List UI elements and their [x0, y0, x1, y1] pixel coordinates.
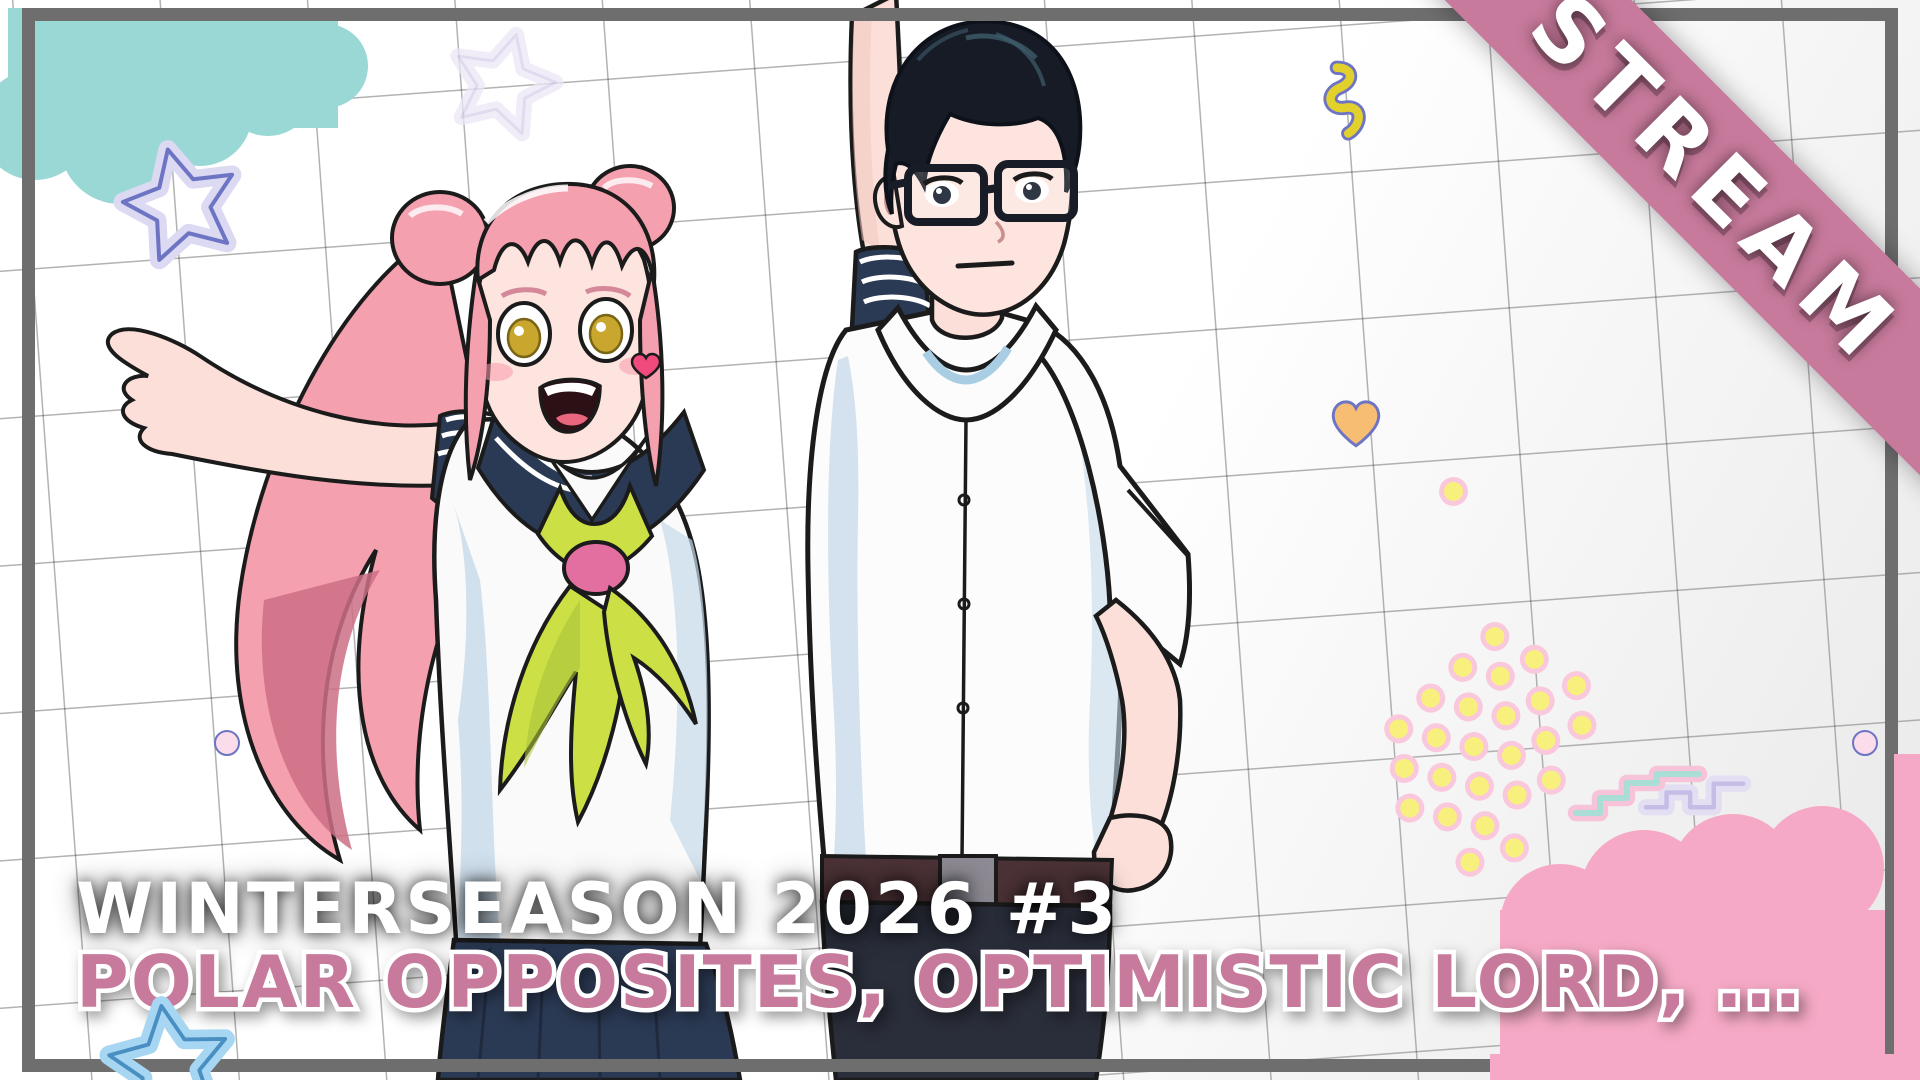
- pink-edge-bottom: [1490, 1054, 1920, 1080]
- star-blue-bottom-icon: [104, 995, 234, 1080]
- dot-yellow-solo: [1444, 482, 1463, 501]
- title-block: WINTERSEASON 2026 #3 POLAR OPPOSITES, OP…: [76, 875, 1803, 1018]
- pink-edge-right: [1894, 754, 1920, 1054]
- page-title-sub: POLAR OPPOSITES, OPTIMISTIC LORD, ...: [76, 946, 1803, 1018]
- zigzag-pink-mint-icon: [1570, 764, 1708, 826]
- dot-pink-right: [1852, 730, 1878, 756]
- banner-stage: WINTERSEASON 2026 #3 POLAR OPPOSITES, OP…: [0, 0, 1920, 1080]
- page-title-main: WINTERSEASON 2026 #3: [76, 875, 1803, 944]
- squiggle-yellow-icon: [1325, 62, 1383, 142]
- heart-orange-icon: [1330, 398, 1382, 448]
